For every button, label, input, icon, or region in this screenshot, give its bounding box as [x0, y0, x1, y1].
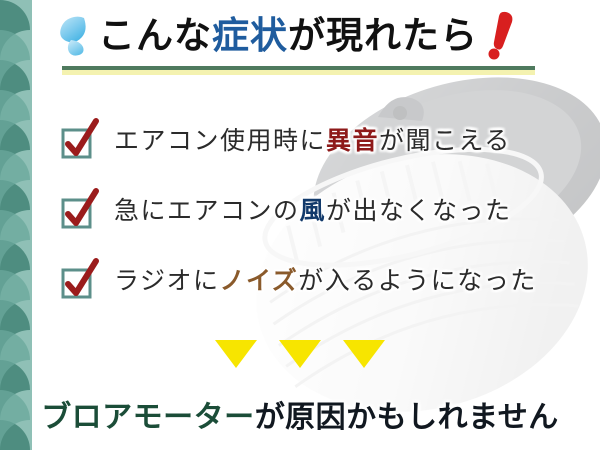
promo-poster: こんな症状が現れたら エアコン使用時に異音が聞こえる: [0, 0, 600, 450]
triangle-down-icon: [343, 340, 385, 368]
list-item: 急にエアコンの風が出なくなった: [58, 174, 578, 244]
label-before: 急にエアコンの: [114, 197, 300, 225]
triangle-down-icon: [215, 340, 257, 368]
label-highlight: 風: [300, 197, 327, 225]
list-item: ラジオにノイズが入るようになった: [58, 244, 578, 314]
triangle-down-icon: [279, 340, 321, 368]
scallop-pattern: [0, 0, 50, 450]
label-highlight: 異音: [326, 127, 379, 155]
label-before: ラジオに: [114, 267, 220, 295]
label-highlight: ノイズ: [220, 267, 299, 295]
header-text-before: こんな: [98, 15, 212, 56]
header-text-after: が現れたら: [288, 15, 478, 56]
arrow-row: [0, 340, 600, 368]
conclusion-product-name: ブロアモーター: [41, 401, 255, 434]
exclamation-mark-icon: [482, 9, 516, 61]
label-after: が出なくなった: [326, 197, 512, 225]
list-item-label: 急にエアコンの風が出なくなった: [114, 191, 512, 227]
header-text-highlight: 症状: [212, 15, 288, 56]
checkbox-checked-icon: [58, 257, 102, 301]
header-banner: こんな症状が現れたら: [58, 4, 588, 66]
label-after: が聞こえる: [379, 127, 511, 155]
header-title: こんな症状が現れたら: [98, 17, 478, 54]
checkbox-checked-icon: [58, 187, 102, 231]
list-item: エアコン使用時に異音が聞こえる: [58, 104, 578, 174]
divider-yellow-line: [62, 70, 535, 75]
conclusion-text: ブロアモーターが原因かもしれません: [0, 392, 600, 436]
conclusion-suffix: が原因かもしれません: [255, 401, 559, 434]
label-after: が入るようになった: [298, 267, 537, 295]
checkbox-checked-icon: [58, 117, 102, 161]
symptom-checklist: エアコン使用時に異音が聞こえる 急にエアコンの風が出なくなった ラジオにノイズが…: [58, 104, 578, 314]
water-drop-icon: [58, 14, 92, 58]
divider: [62, 66, 535, 75]
list-item-label: ラジオにノイズが入るようになった: [114, 261, 537, 297]
label-before: エアコン使用時に: [114, 127, 326, 155]
list-item-label: エアコン使用時に異音が聞こえる: [114, 121, 511, 157]
